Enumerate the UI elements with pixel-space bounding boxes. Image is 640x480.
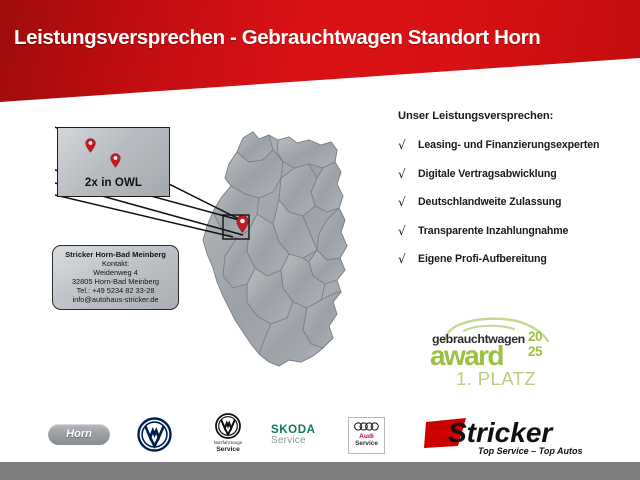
vw-nutzfahrzeuge-logo: Nutzfahrzeuge Service [208, 413, 248, 457]
vw-logo-icon [137, 417, 172, 452]
germany-map [185, 112, 365, 394]
skoda-service-logo: SKODA Service [271, 424, 333, 446]
promise-list: Unser Leistungsversprechen: √ Leasing- u… [398, 110, 638, 281]
stricker-tagline: Top Service – Top Autos [478, 446, 583, 456]
horn-badge-label: Horn [48, 424, 110, 445]
contact-line-email: info@autohaus-stricker.de [53, 295, 178, 304]
stricker-logo: Stricker Top Service – Top Autos [424, 412, 594, 458]
contact-line-city: 32805 Horn-Bad Meinberg [53, 277, 178, 286]
skoda-sub: Service [271, 435, 333, 446]
list-item: √ Leasing- und Finanzierungsexperten [398, 138, 638, 153]
audi-service-logo: Audi Service [348, 417, 385, 454]
audi-sub: Service [349, 440, 384, 447]
check-icon: √ [398, 252, 418, 266]
map-pin-icon [236, 215, 249, 233]
stricker-name: Stricker [448, 417, 554, 448]
audi-rings-icon [354, 422, 380, 431]
page-title: Leistungsversprechen - Gebrauchtwagen St… [14, 26, 634, 50]
check-icon: √ [398, 138, 418, 152]
list-item: √ Transparente Inzahlungnahme [398, 224, 638, 239]
horn-badge: Horn [48, 424, 110, 445]
vw-nutzfahrzeuge-line1: Nutzfahrzeuge [208, 440, 248, 445]
award-main-word: award [430, 341, 503, 371]
contact-line-street: Weidenweg 4 [53, 268, 178, 277]
promise-heading: Unser Leistungsversprechen: [398, 110, 638, 122]
promise-item-label: Transparente Inzahlungnahme [418, 224, 568, 239]
award-rank: 1. PLATZ [456, 368, 536, 390]
list-item: √ Eigene Profi-Aufbereitung [398, 252, 638, 267]
contact-info-box: Stricker Horn-Bad Meinberg Kontakt: Weid… [52, 245, 179, 310]
check-icon: √ [398, 167, 418, 181]
award-badge: gebrauchtwagen award 20 25 1. PLATZ [428, 316, 563, 392]
award-year: 20 25 [528, 330, 542, 359]
contact-line-kontakt: Kontakt: [53, 259, 178, 268]
check-icon: √ [398, 195, 418, 209]
check-icon: √ [398, 224, 418, 238]
promise-item-label: Deutschlandweite Zulassung [418, 195, 561, 210]
promise-item-label: Leasing- und Finanzierungsexperten [418, 138, 599, 153]
audi-name: Audi [349, 433, 384, 440]
owl-label: 2x in OWL [58, 177, 169, 189]
bottom-bar [0, 462, 640, 480]
header-banner [0, 0, 640, 105]
map-pin-icon [85, 138, 96, 153]
contact-line-name: Stricker Horn-Bad Meinberg [53, 250, 178, 259]
promise-item-label: Eigene Profi-Aufbereitung [418, 252, 547, 267]
slide-root: Leistungsversprechen - Gebrauchtwagen St… [0, 0, 640, 480]
map-pin-icon [110, 153, 121, 168]
list-item: √ Deutschlandweite Zulassung [398, 195, 638, 210]
list-item: √ Digitale Vertragsabwicklung [398, 167, 638, 182]
award-year-top: 20 [528, 330, 542, 345]
contact-line-phone: Tel.: +49 5234 82 33-28 [53, 286, 178, 295]
owl-magnifier-box: 2x in OWL [57, 127, 170, 197]
vw-logo-icon [215, 413, 241, 439]
award-year-bottom: 25 [528, 345, 542, 360]
promise-item-label: Digitale Vertragsabwicklung [418, 167, 557, 182]
vw-nutzfahrzeuge-line2: Service [208, 446, 248, 453]
